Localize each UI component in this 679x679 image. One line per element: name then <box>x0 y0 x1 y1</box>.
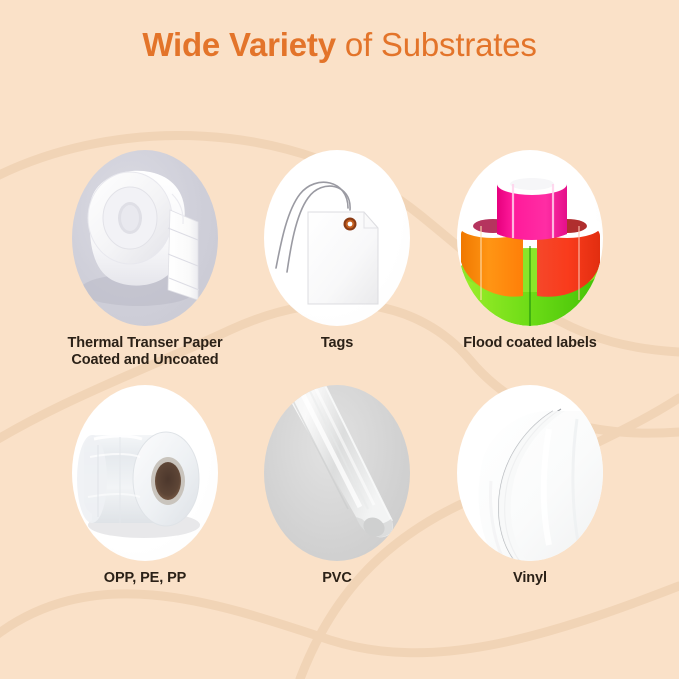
substrate-caption: Flood coated labels <box>417 335 643 352</box>
clear-vinyl-sheet-photo <box>457 385 603 561</box>
colored-label-rolls-photo <box>457 150 603 326</box>
clear-pvc-film-photo <box>264 385 410 561</box>
caption-line-2: Coated and Uncoated <box>32 352 258 369</box>
page-title-strong: Wide Variety <box>142 26 336 63</box>
page-title: Wide Variety of Substrates <box>0 25 679 65</box>
plastic-film-roll-photo <box>72 385 218 561</box>
substrate-grid: Thermal Transer Paper Coated and Uncoate… <box>0 150 679 640</box>
caption-line-1: Vinyl <box>417 570 643 587</box>
substrate-item-vinyl[interactable]: Vinyl <box>417 385 643 587</box>
caption-line-1: Flood coated labels <box>417 335 643 352</box>
page-title-light: of Substrates <box>336 26 537 63</box>
substrate-caption: Vinyl <box>417 570 643 587</box>
hang-tag-photo <box>264 150 410 326</box>
substrate-item-flood-coated-labels[interactable]: Flood coated labels <box>417 150 643 352</box>
label-roll-photo <box>72 150 218 326</box>
